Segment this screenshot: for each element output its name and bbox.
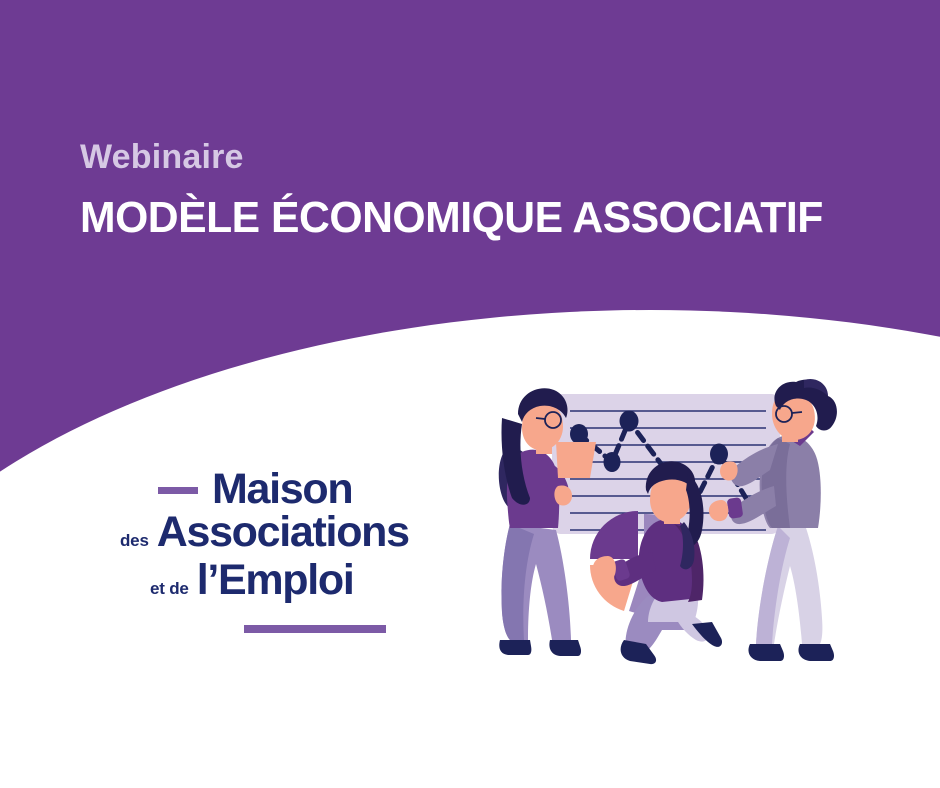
poster-canvas: Webinaire MODÈLE ÉCONOMIQUE ASSOCIATIF M…: [0, 0, 940, 788]
logo-word-etde: et de: [150, 579, 189, 599]
logo-word-lemploi: l’Emploi: [197, 559, 354, 602]
logo-line-2: des Associations: [120, 511, 409, 554]
dash-icon: [158, 487, 198, 494]
kicker-text: Webinaire: [80, 140, 244, 174]
logo-line-1: Maison: [158, 468, 352, 511]
page-title: MODÈLE ÉCONOMIQUE ASSOCIATIF: [80, 194, 823, 242]
logo-word-associations: Associations: [157, 511, 409, 554]
logo-line-3: et de l’Emploi: [150, 559, 354, 602]
logo: Maison des Associations et de l’Emploi: [120, 468, 450, 643]
logo-word-des: des: [120, 531, 149, 551]
logo-word-maison: Maison: [212, 468, 352, 511]
illustration-team-analyzing-charts: [478, 374, 858, 674]
logo-underline: [244, 625, 386, 633]
